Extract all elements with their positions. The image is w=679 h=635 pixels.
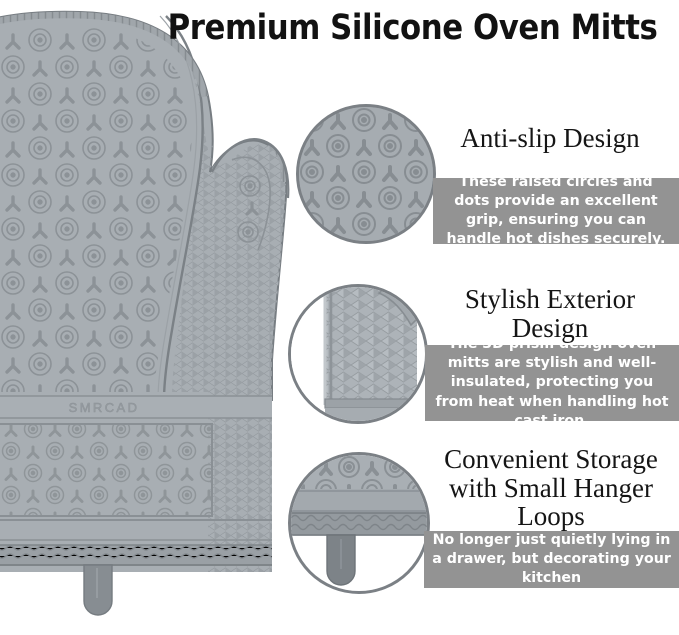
prism-texture-icon xyxy=(288,284,428,424)
mitt-body xyxy=(0,12,288,400)
feature-heading: Stylish Exterior Design xyxy=(424,285,676,342)
mitt-cuff: SMRCAD xyxy=(0,392,278,615)
feature-heading: Convenient Storage with Small Hanger Loo… xyxy=(424,445,678,531)
hanger-loop xyxy=(84,565,112,615)
product-infographic: Premium Silicone Oven Mitts xyxy=(0,0,679,635)
feature-body: These raised circles and dots provide an… xyxy=(433,178,679,244)
circles-and-dots-texture-icon xyxy=(296,104,436,244)
feature-heading: Anti-slip Design xyxy=(424,124,676,153)
brand-label: SMRCAD xyxy=(69,400,140,415)
feature-body: No longer just quietly lying in a drawer… xyxy=(424,531,679,588)
page-title: Premium Silicone Oven Mitts xyxy=(182,6,644,50)
hanger-loop-icon xyxy=(288,452,430,594)
feature-body: The 3D prism design oven mitts are styli… xyxy=(425,345,679,421)
product-image: SMRCAD xyxy=(0,0,300,635)
